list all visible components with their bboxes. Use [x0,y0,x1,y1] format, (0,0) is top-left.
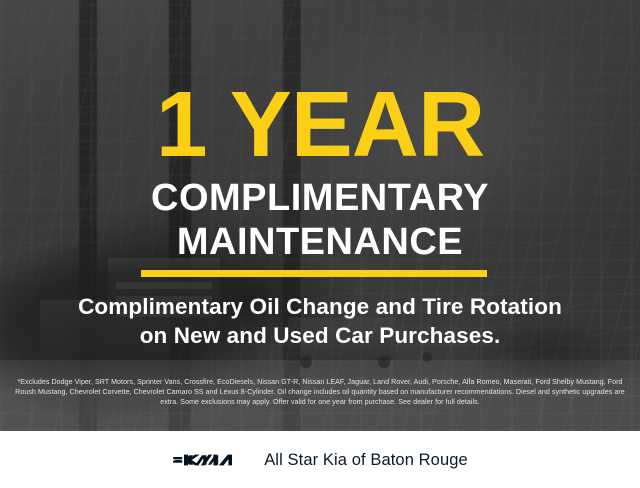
dealer-footer: All Star Kia of Baton Rouge [0,431,640,488]
ad-content: 1 YEAR COMPLIMENTARY MAINTENANCE Complim… [0,0,640,431]
yellow-divider [141,270,487,277]
headline-maintenance: MAINTENANCE [0,222,640,262]
kia-logo-icon [172,450,244,470]
disclaimer-text: *Excludes Dodge Viper, SRT Motors, Sprin… [14,377,626,408]
offer-description: Complimentary Oil Change and Tire Rotati… [20,292,620,350]
dealer-name: All Star Kia of Baton Rouge [264,450,468,470]
hero-banner: 1 YEAR COMPLIMENTARY MAINTENANCE Complim… [0,0,640,431]
headline-year: 1 YEAR [0,78,640,171]
offer-line-2: on New and Used Car Purchases. [20,321,620,350]
offer-line-1: Complimentary Oil Change and Tire Rotati… [20,292,620,321]
headline-complimentary: COMPLIMENTARY [0,178,640,218]
promotional-ad: 1 YEAR COMPLIMENTARY MAINTENANCE Complim… [0,0,640,488]
